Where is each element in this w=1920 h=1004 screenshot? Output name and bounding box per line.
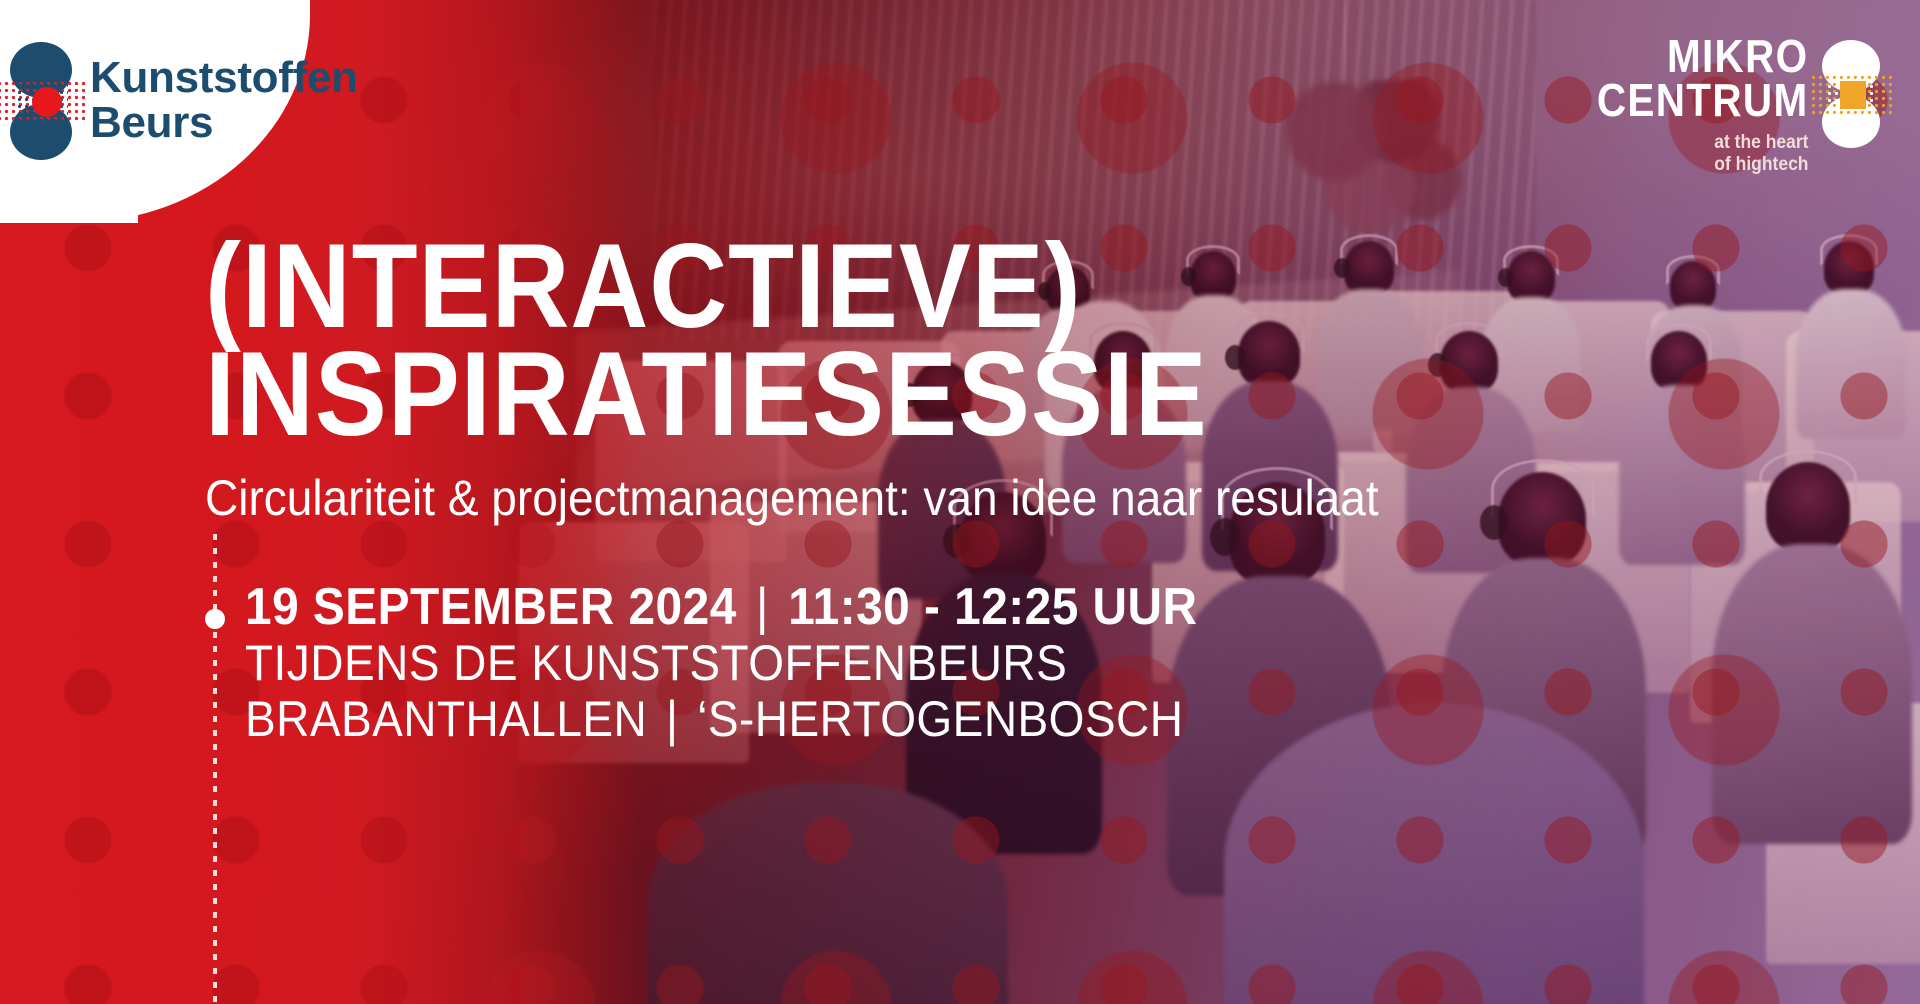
event-banner: Kunststoffen Beurs MIKRO CENTRUM at the …	[0, 0, 1920, 1004]
venue-separator: |	[660, 691, 683, 747]
mikrocentrum-tagline: at the heart of hightech	[1587, 132, 1808, 175]
headline-line-2: INSPIRATIESESSIE	[205, 340, 1375, 448]
mikrocentrum-mark-icon	[1822, 40, 1880, 148]
kunststoffen-logo-line1: Kunststoffen	[90, 56, 358, 101]
main-copy: (INTERACTIEVE) INSPIRATIESESSIE Circular…	[205, 232, 1505, 525]
event-venue-line-2: BRABANTHALLEN | ‘S-HERTOGENBOSCH	[245, 691, 1198, 747]
event-details: 19 SEPTEMBER 2024 | 11:30 - 12:25 UUR TI…	[205, 580, 1280, 747]
bullet-dot-icon	[205, 609, 225, 629]
mikrocentrum-tagline-line1: at the heart	[1587, 132, 1808, 153]
mikrocentrum-logo[interactable]: MIKRO CENTRUM at the heart of hightech	[1568, 34, 1880, 175]
event-venue-line-1: TIJDENS DE KUNSTSTOFFENBEURS	[245, 635, 1198, 691]
kunststoffen-logo-line2: Beurs	[90, 101, 358, 146]
event-date: 19 SEPTEMBER 2024	[245, 578, 737, 636]
mikrocentrum-tagline-line2: of hightech	[1587, 154, 1808, 175]
kunststoffen-beurs-logo[interactable]: Kunststoffen Beurs	[10, 42, 358, 160]
venue-hall: BRABANTHALLEN	[245, 691, 647, 747]
venue-city: ‘S-HERTOGENBOSCH	[697, 691, 1183, 747]
dotted-vertical-line	[213, 534, 217, 1004]
mikrocentrum-logo-line2: CENTRUM	[1596, 78, 1808, 122]
mikrocentrum-logo-line1: MIKRO	[1596, 34, 1808, 78]
mikrocentrum-wordmark: MIKRO CENTRUM at the heart of hightech	[1568, 34, 1808, 175]
kunststoffen-beurs-mark-icon	[10, 42, 72, 160]
datetime-separator: |	[751, 578, 775, 636]
kunststoffen-beurs-wordmark: Kunststoffen Beurs	[90, 56, 358, 146]
event-datetime: 19 SEPTEMBER 2024 | 11:30 - 12:25 UUR	[245, 580, 1198, 635]
event-time: 11:30 - 12:25 UUR	[788, 578, 1197, 636]
page-title: (INTERACTIEVE) INSPIRATIESESSIE	[205, 232, 1375, 448]
subtitle: Circulariteit & projectmanagement: van i…	[205, 472, 1401, 525]
